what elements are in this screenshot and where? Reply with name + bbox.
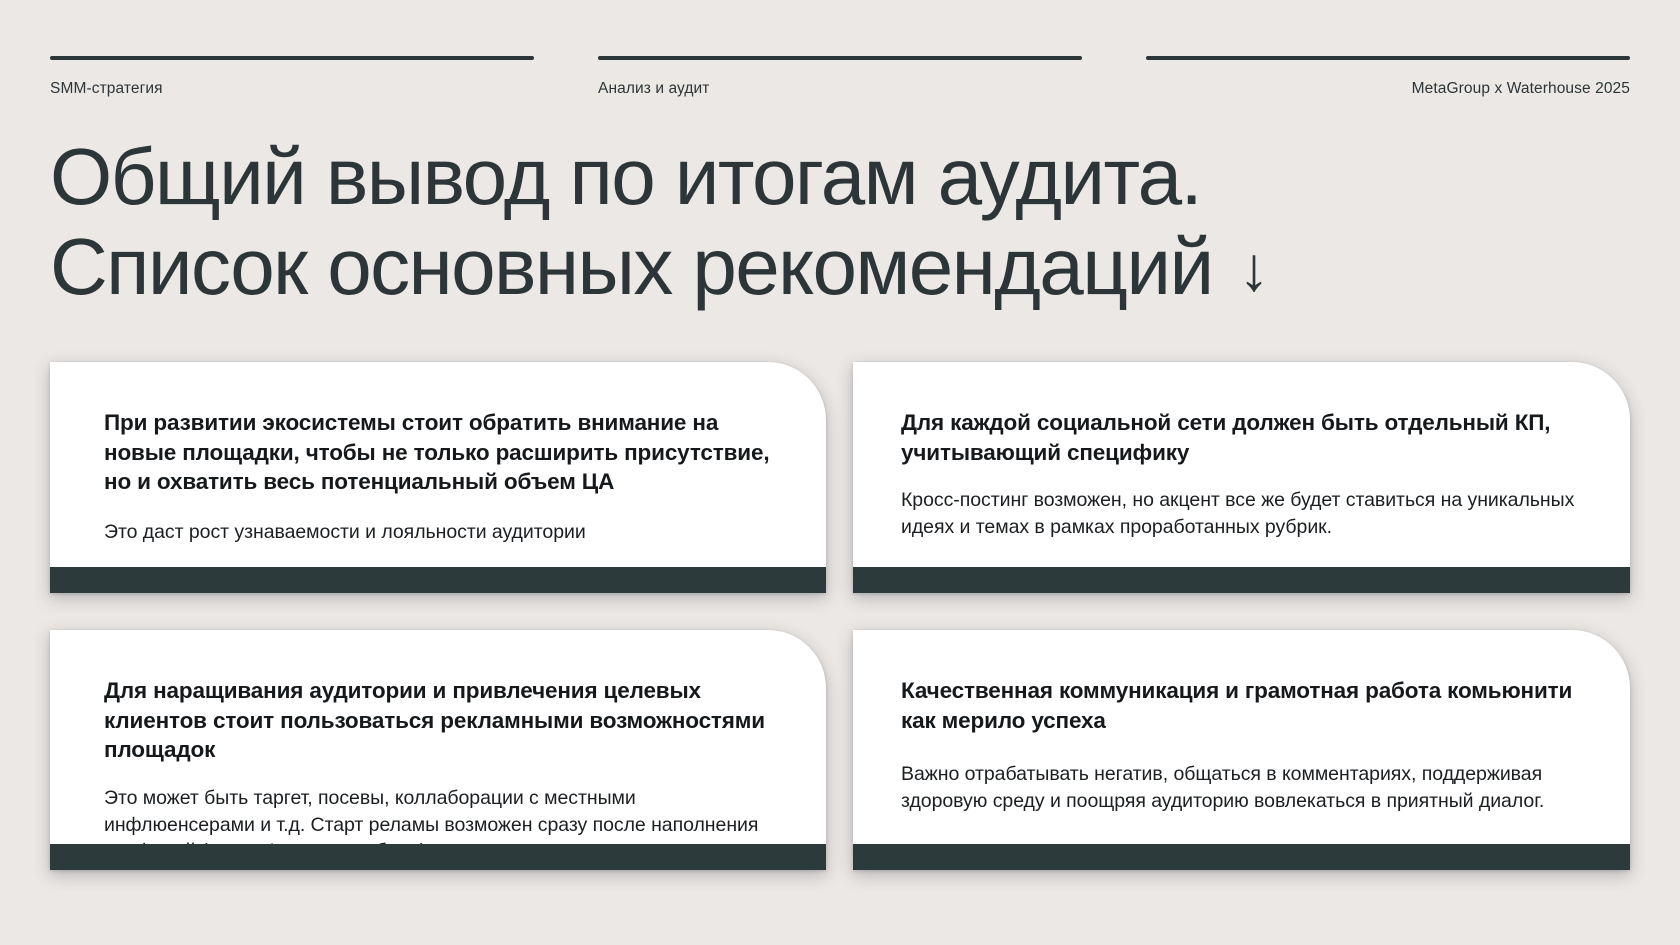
slide: SMM-стратегия Анализ и аудит MetaGroup x… xyxy=(0,0,1680,945)
header-column-center: Анализ и аудит xyxy=(598,56,1082,98)
card-3-title: Для наращивания аудитории и привлечения … xyxy=(104,676,772,765)
header-column-right: MetaGroup x Waterhouse 2025 xyxy=(1146,56,1630,98)
card-3-accent-bar xyxy=(50,844,826,870)
header-column-left: SMM-стратегия xyxy=(50,56,534,98)
recommendations-row-1: При развитии экосистемы стоит обратить в… xyxy=(0,362,1680,612)
card-1-accent-bar xyxy=(50,567,826,593)
card-2-description: Кросс-постинг возможен, но акцент все же… xyxy=(901,487,1580,540)
card-3-body: Для наращивания аудитории и привлечения … xyxy=(50,630,826,870)
page-title-text: Общий вывод по итогам аудита. Список осн… xyxy=(50,132,1213,311)
recommendation-card-3[interactable]: Для наращивания аудитории и привлечения … xyxy=(50,630,826,870)
header-rule-left xyxy=(50,56,534,60)
arrow-down-icon: ↓ xyxy=(1239,239,1270,301)
header-rule-right xyxy=(1146,56,1630,60)
header-label-center: Анализ и аудит xyxy=(598,80,1082,98)
recommendation-card-2[interactable]: Для каждой социальной сети должен быть о… xyxy=(853,362,1630,593)
header-label-left: SMM-стратегия xyxy=(50,80,534,98)
card-2-accent-bar xyxy=(853,567,1630,593)
card-4-description: Важно отрабатывать негатив, общаться в к… xyxy=(901,761,1580,814)
recommendation-card-1[interactable]: При развитии экосистемы стоит обратить в… xyxy=(50,362,826,593)
card-4-body: Качественная коммуникация и грамотная ра… xyxy=(853,630,1630,828)
card-1-description: Это даст рост узнаваемости и лояльности … xyxy=(104,519,772,546)
header-label-right: MetaGroup x Waterhouse 2025 xyxy=(1146,80,1630,98)
card-4-title: Качественная коммуникация и грамотная ра… xyxy=(901,676,1580,735)
card-1-title: При развитии экосистемы стоит обратить в… xyxy=(104,408,772,497)
slide-header: SMM-стратегия Анализ и аудит MetaGroup x… xyxy=(50,56,1630,98)
recommendation-card-4[interactable]: Качественная коммуникация и грамотная ра… xyxy=(853,630,1630,870)
recommendations-row-2: Для наращивания аудитории и привлечения … xyxy=(0,630,1680,885)
page-title: Общий вывод по итогам аудита. Список осн… xyxy=(50,132,1550,311)
recommendations-grid: При развитии экосистемы стоит обратить в… xyxy=(0,362,1680,885)
card-4-accent-bar xyxy=(853,844,1630,870)
card-1-body: При развитии экосистемы стоит обратить в… xyxy=(50,362,826,560)
card-2-body: Для каждой социальной сети должен быть о… xyxy=(853,362,1630,554)
header-rule-center xyxy=(598,56,1082,60)
card-2-title: Для каждой социальной сети должен быть о… xyxy=(901,408,1580,467)
